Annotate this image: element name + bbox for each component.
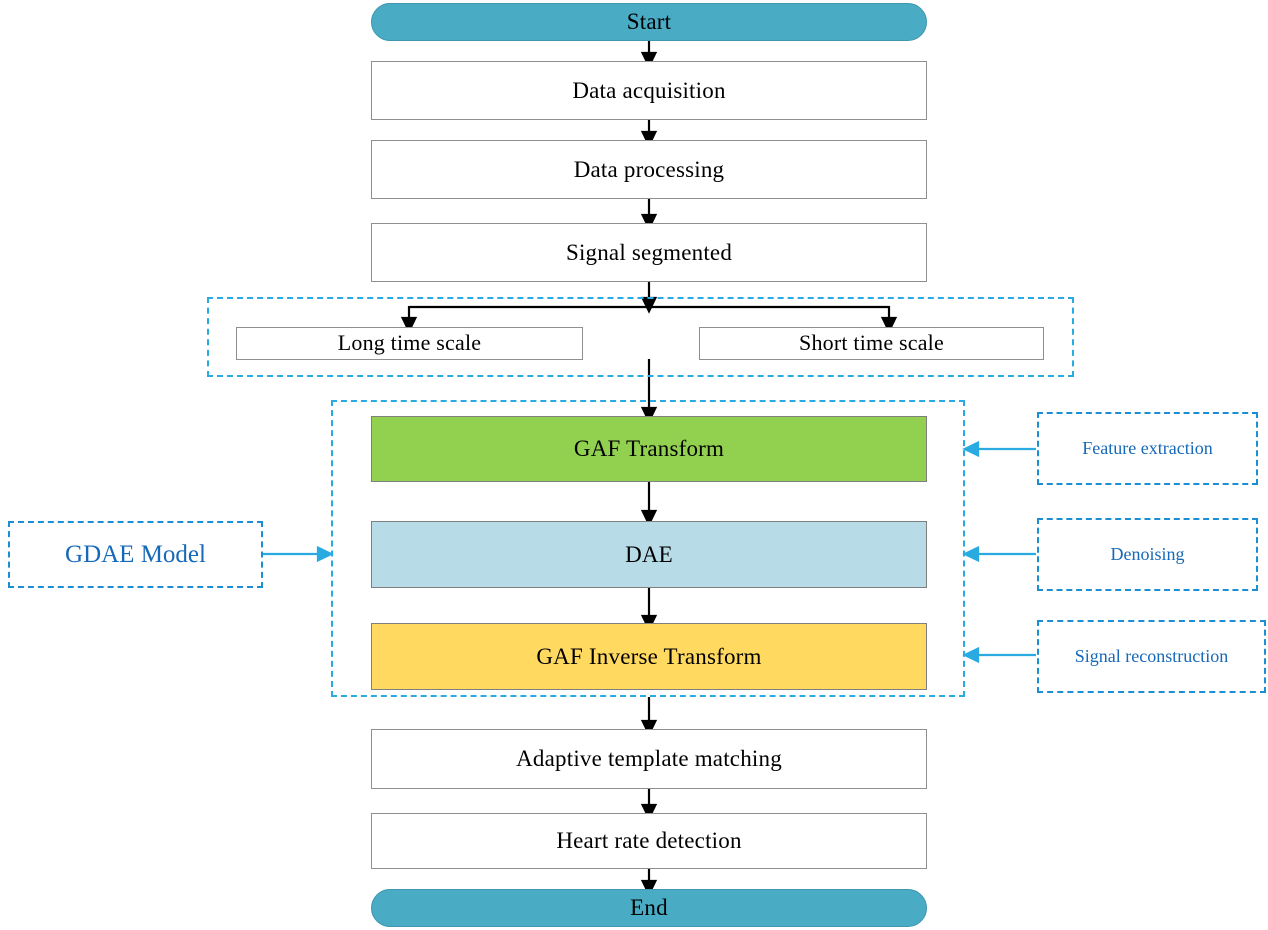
node-data-acquisition[interactable]: Data acquisition xyxy=(371,61,927,120)
annotation-signal-reconstruction[interactable]: Signal reconstruction xyxy=(1037,620,1266,693)
annotation-gdae-model-label: GDAE Model xyxy=(65,541,206,569)
node-adaptive-template-matching[interactable]: Adaptive template matching xyxy=(371,729,927,789)
node-gaf-transform[interactable]: GAF Transform xyxy=(371,416,927,482)
node-gaf-inverse-transform-label: GAF Inverse Transform xyxy=(536,644,761,669)
annotation-signal-reconstruction-label: Signal reconstruction xyxy=(1075,646,1228,667)
node-gaf-inverse-transform[interactable]: GAF Inverse Transform xyxy=(371,623,927,690)
node-signal-segmented-label: Signal segmented xyxy=(566,240,732,265)
node-end[interactable]: End xyxy=(371,889,927,927)
node-heart-rate-detection[interactable]: Heart rate detection xyxy=(371,813,927,869)
node-gaf-transform-label: GAF Transform xyxy=(574,436,724,461)
node-signal-segmented[interactable]: Signal segmented xyxy=(371,223,927,282)
node-dae-label: DAE xyxy=(625,542,673,567)
node-data-acquisition-label: Data acquisition xyxy=(572,78,725,103)
annotation-denoising-label: Denoising xyxy=(1111,544,1185,565)
node-data-processing[interactable]: Data processing xyxy=(371,140,927,199)
annotation-gdae-model[interactable]: GDAE Model xyxy=(8,521,263,588)
node-long-time-scale-label: Long time scale xyxy=(338,331,482,355)
node-long-time-scale[interactable]: Long time scale xyxy=(236,327,583,360)
node-start-label: Start xyxy=(627,9,671,34)
annotation-feature-extraction-label: Feature extraction xyxy=(1082,438,1212,459)
node-adaptive-template-matching-label: Adaptive template matching xyxy=(516,746,782,771)
node-dae[interactable]: DAE xyxy=(371,521,927,588)
node-start[interactable]: Start xyxy=(371,3,927,41)
annotation-denoising[interactable]: Denoising xyxy=(1037,518,1258,591)
node-short-time-scale-label: Short time scale xyxy=(799,331,944,355)
annotation-feature-extraction[interactable]: Feature extraction xyxy=(1037,412,1258,485)
node-end-label: End xyxy=(630,895,668,920)
node-short-time-scale[interactable]: Short time scale xyxy=(699,327,1044,360)
node-data-processing-label: Data processing xyxy=(574,157,725,182)
flowchart-canvas: Start Data acquisition Data processing S… xyxy=(0,0,1268,930)
node-heart-rate-detection-label: Heart rate detection xyxy=(556,828,741,853)
